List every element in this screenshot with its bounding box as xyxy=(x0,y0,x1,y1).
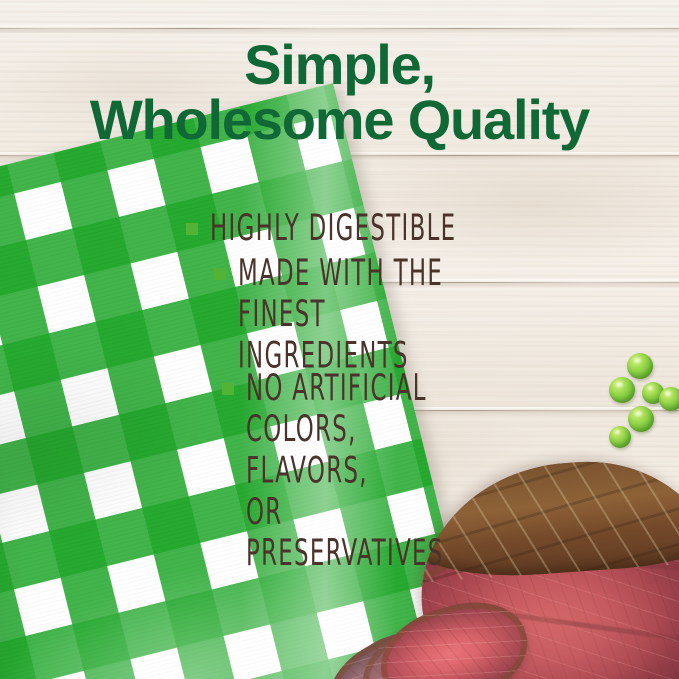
product-feature-panel: Simple, Wholesome Quality HIGHLY DIGESTI… xyxy=(0,0,679,679)
pea-icon xyxy=(628,406,654,432)
pea-icon xyxy=(609,377,635,403)
list-item-label: HIGHLY DIGESTIBLE xyxy=(210,208,456,249)
list-item-label: MADE WITH THE FINEST INGREDIENTS xyxy=(238,253,482,377)
bullet-square-icon xyxy=(222,383,234,395)
bullet-square-icon xyxy=(186,223,198,235)
headline: Simple, Wholesome Quality xyxy=(0,38,679,148)
list-item: NO ARTIFICIAL COLORS, FLAVORS, OR PRESER… xyxy=(222,368,536,543)
pea-icon xyxy=(659,387,679,411)
bullet-square-icon xyxy=(214,268,226,280)
list-item: MADE WITH THE FINEST INGREDIENTS xyxy=(214,253,536,358)
list-item-label: NO ARTIFICIAL COLORS, FLAVORS, OR PRESER… xyxy=(246,368,484,575)
benefits-list: HIGHLY DIGESTIBLE MADE WITH THE FINEST I… xyxy=(186,208,536,553)
pea-icon xyxy=(627,353,653,379)
list-item: HIGHLY DIGESTIBLE xyxy=(186,208,536,243)
